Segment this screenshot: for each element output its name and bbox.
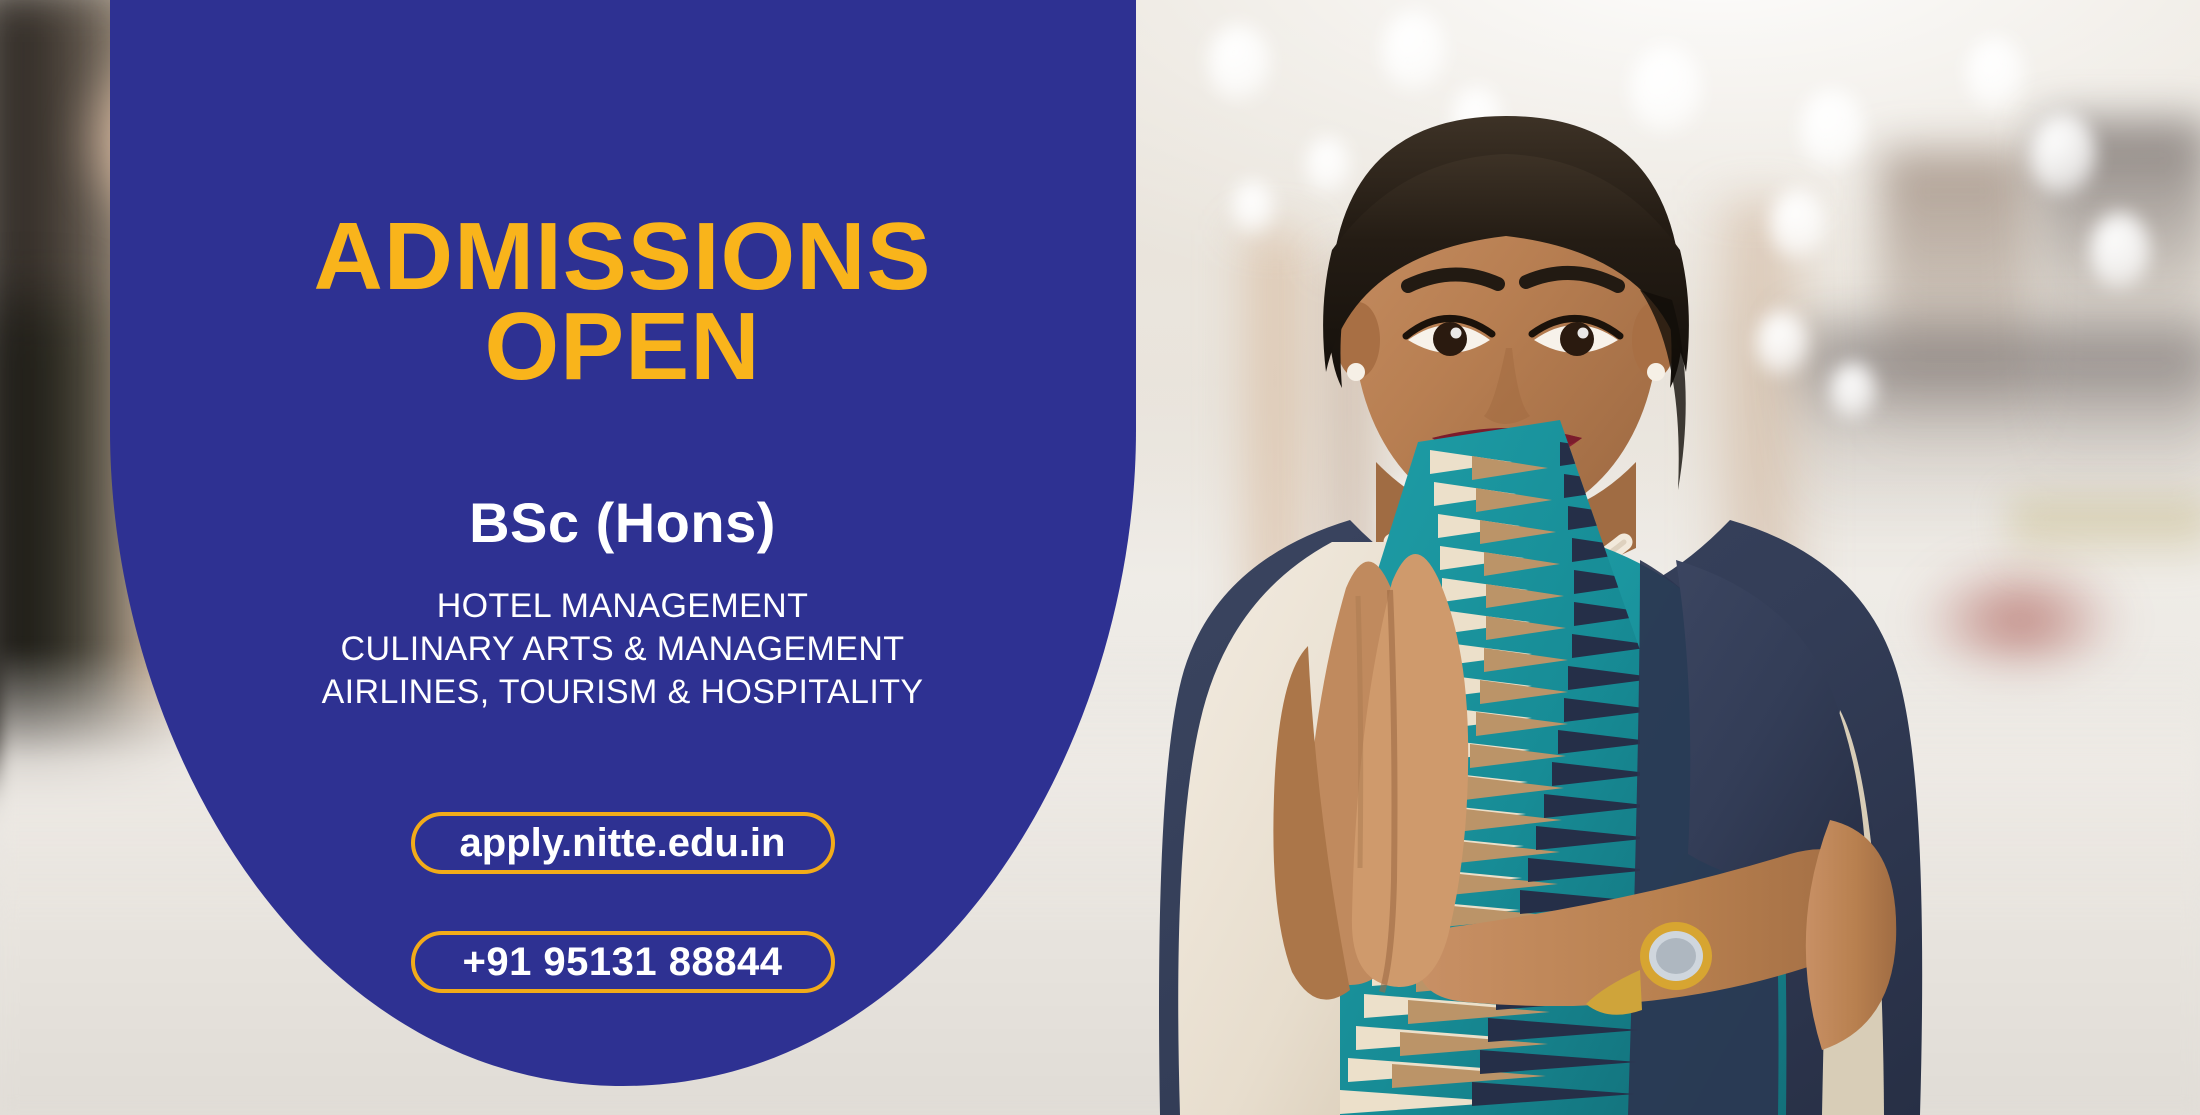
course-item: CULINARY ARTS & MANAGEMENT (110, 628, 1135, 671)
subject-photo-woman (1040, 90, 2040, 1115)
contact-phone-button[interactable]: +91 95131 88844 (411, 931, 835, 993)
bokeh-light (2090, 212, 2150, 290)
banner-copy: ADMISSIONS OPEN BSc (Hons) HOTEL MANAGEM… (110, 0, 1135, 1115)
degree-title: BSc (Hons) (110, 490, 1135, 555)
course-item: HOTEL MANAGEMENT (110, 585, 1135, 628)
pearl-earring (1647, 363, 1665, 381)
course-list: HOTEL MANAGEMENT CULINARY ARTS & MANAGEM… (110, 585, 1135, 715)
woman-illustration (1040, 90, 2040, 1115)
pearl-earring (1347, 363, 1365, 381)
headline-line-2: OPEN (110, 302, 1135, 392)
page-title: ADMISSIONS OPEN (110, 212, 1135, 392)
bokeh-light (1382, 10, 1446, 92)
course-item: AIRLINES, TOURISM & HOSPITALITY (110, 671, 1135, 714)
apply-website-button[interactable]: apply.nitte.edu.in (411, 812, 835, 874)
